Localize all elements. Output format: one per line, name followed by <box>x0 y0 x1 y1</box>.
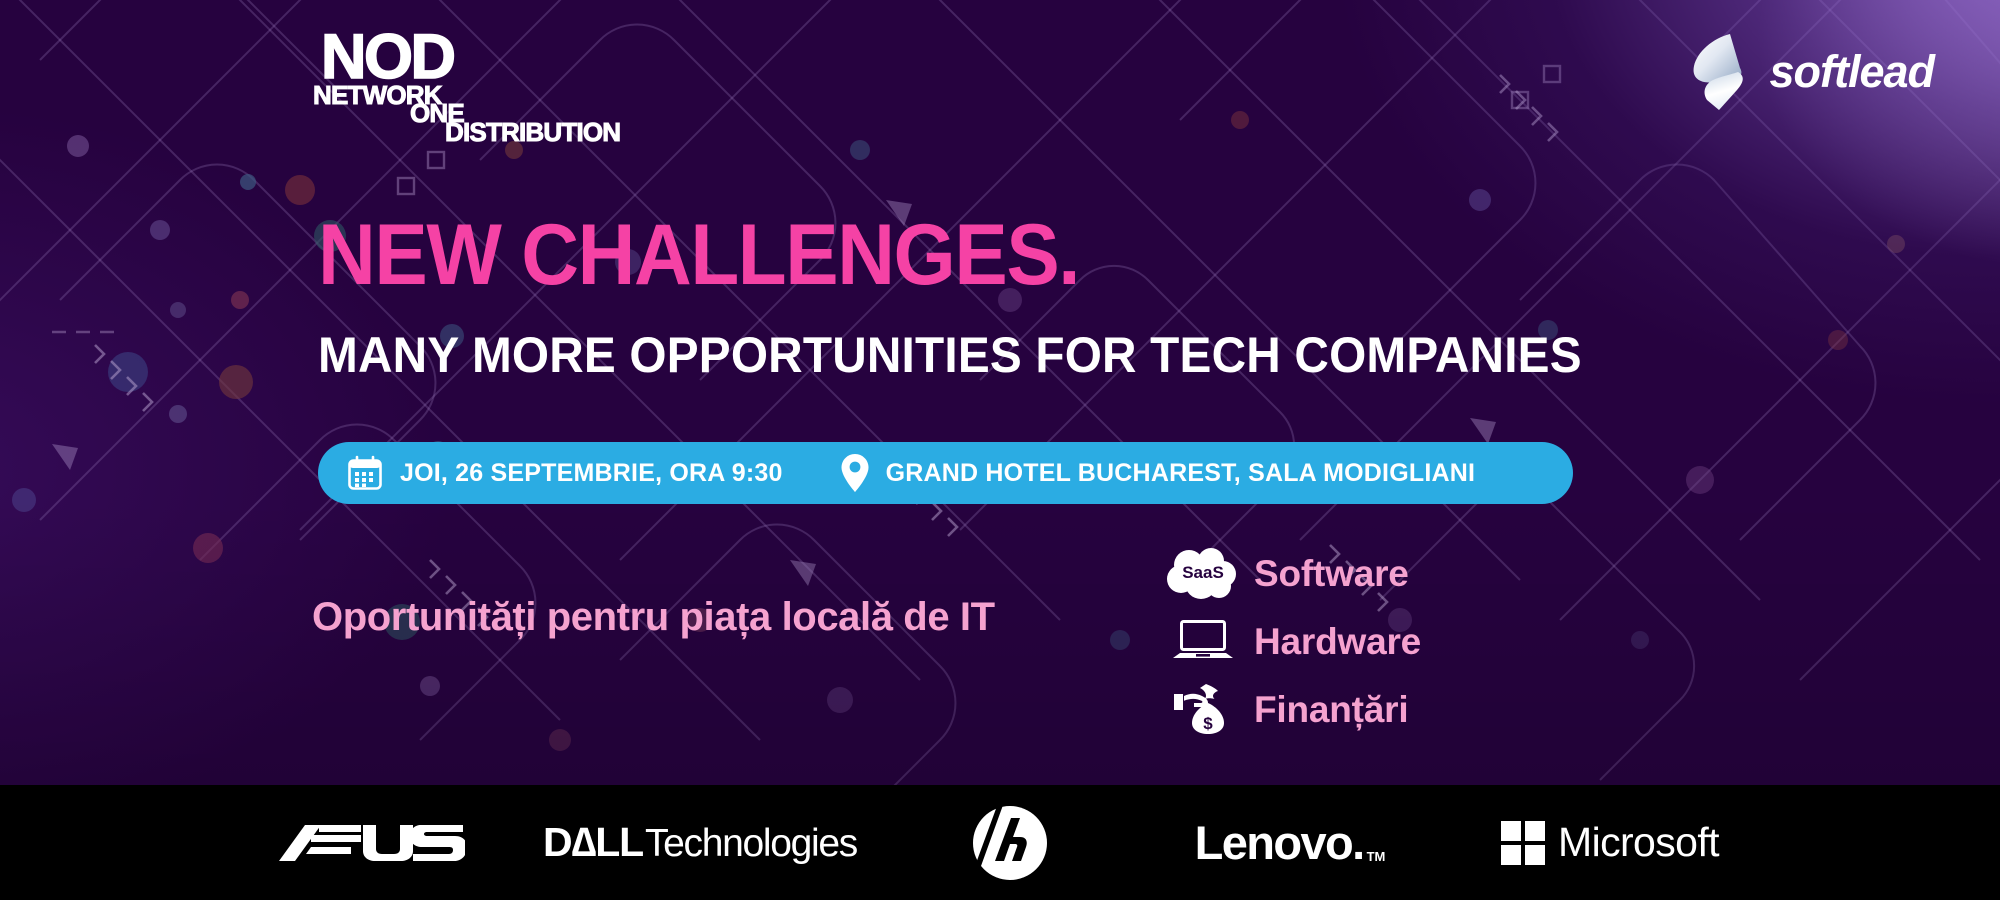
map-pin-icon <box>840 453 870 493</box>
page-title: NEW CHALLENGES. <box>318 212 1079 298</box>
microsoft-wordmark: Microsoft <box>1558 819 1719 866</box>
lightning-bolt-icon <box>1689 32 1753 110</box>
event-date-text: JOI, 26 SEPTEMBRIE, ORA 9:30 <box>400 461 783 486</box>
event-date-group: JOI, 26 SEPTEMBRIE, ORA 9:30 <box>318 442 783 504</box>
calendar-icon <box>346 454 384 492</box>
partner-logo-microsoft[interactable]: Microsoft <box>1440 785 1780 900</box>
nod-logo-distribution: DISTRIBUTION <box>445 119 620 145</box>
partner-logo-strip: D∆LL Technologies Lenovo. TM <box>0 785 2000 900</box>
event-venue-text: GRAND HOTEL BUCHAREST, SALA MODIGLIANI <box>886 461 1476 486</box>
category-label-financing: Finanțări <box>1254 691 1408 728</box>
lenovo-wordmark: Lenovo. <box>1195 815 1364 870</box>
category-label-software: Software <box>1254 555 1409 592</box>
microsoft-squares-icon <box>1501 821 1545 865</box>
category-item-hardware: Hardware <box>1160 615 1421 667</box>
dell-wordmark: D∆LL <box>543 819 643 866</box>
event-info-bar: JOI, 26 SEPTEMBRIE, ORA 9:30 GRAND HOTEL… <box>318 442 1573 504</box>
cloud-saas-icon: SaaS <box>1160 545 1246 601</box>
svg-text:$: $ <box>1203 714 1213 733</box>
lenovo-tm-mark: TM <box>1367 849 1386 864</box>
partner-logo-dell[interactable]: D∆LL Technologies <box>520 785 880 900</box>
category-list: SaaS Software Hardware <box>1160 547 1421 735</box>
softlead-logo[interactable]: softlead <box>1689 32 1934 110</box>
laptop-icon <box>1160 617 1246 665</box>
category-item-software: SaaS Software <box>1160 547 1421 599</box>
money-bag-hand-icon: $ <box>1160 682 1246 736</box>
svg-text:SaaS: SaaS <box>1182 563 1224 582</box>
category-label-hardware: Hardware <box>1254 623 1421 660</box>
event-venue-group: GRAND HOTEL BUCHAREST, SALA MODIGLIANI <box>783 442 1476 504</box>
nod-logo[interactable]: NOD NETWORK ONE DISTRIBUTION <box>313 26 613 136</box>
partner-logo-hp[interactable] <box>880 785 1140 900</box>
tagline: Oportunități pentru piața locală de IT <box>312 597 995 637</box>
softlead-wordmark: softlead <box>1769 49 1934 94</box>
dell-technologies-suffix: Technologies <box>645 822 857 866</box>
partner-logo-asus[interactable] <box>220 785 520 900</box>
page-subtitle: MANY MORE OPPORTUNITIES FOR TECH COMPANI… <box>318 330 1582 380</box>
event-banner: NOD NETWORK ONE DISTRIBUTION softl <box>0 0 2000 900</box>
partner-logo-lenovo[interactable]: Lenovo. TM <box>1140 785 1440 900</box>
category-item-financing: $ Finanțări <box>1160 683 1421 735</box>
